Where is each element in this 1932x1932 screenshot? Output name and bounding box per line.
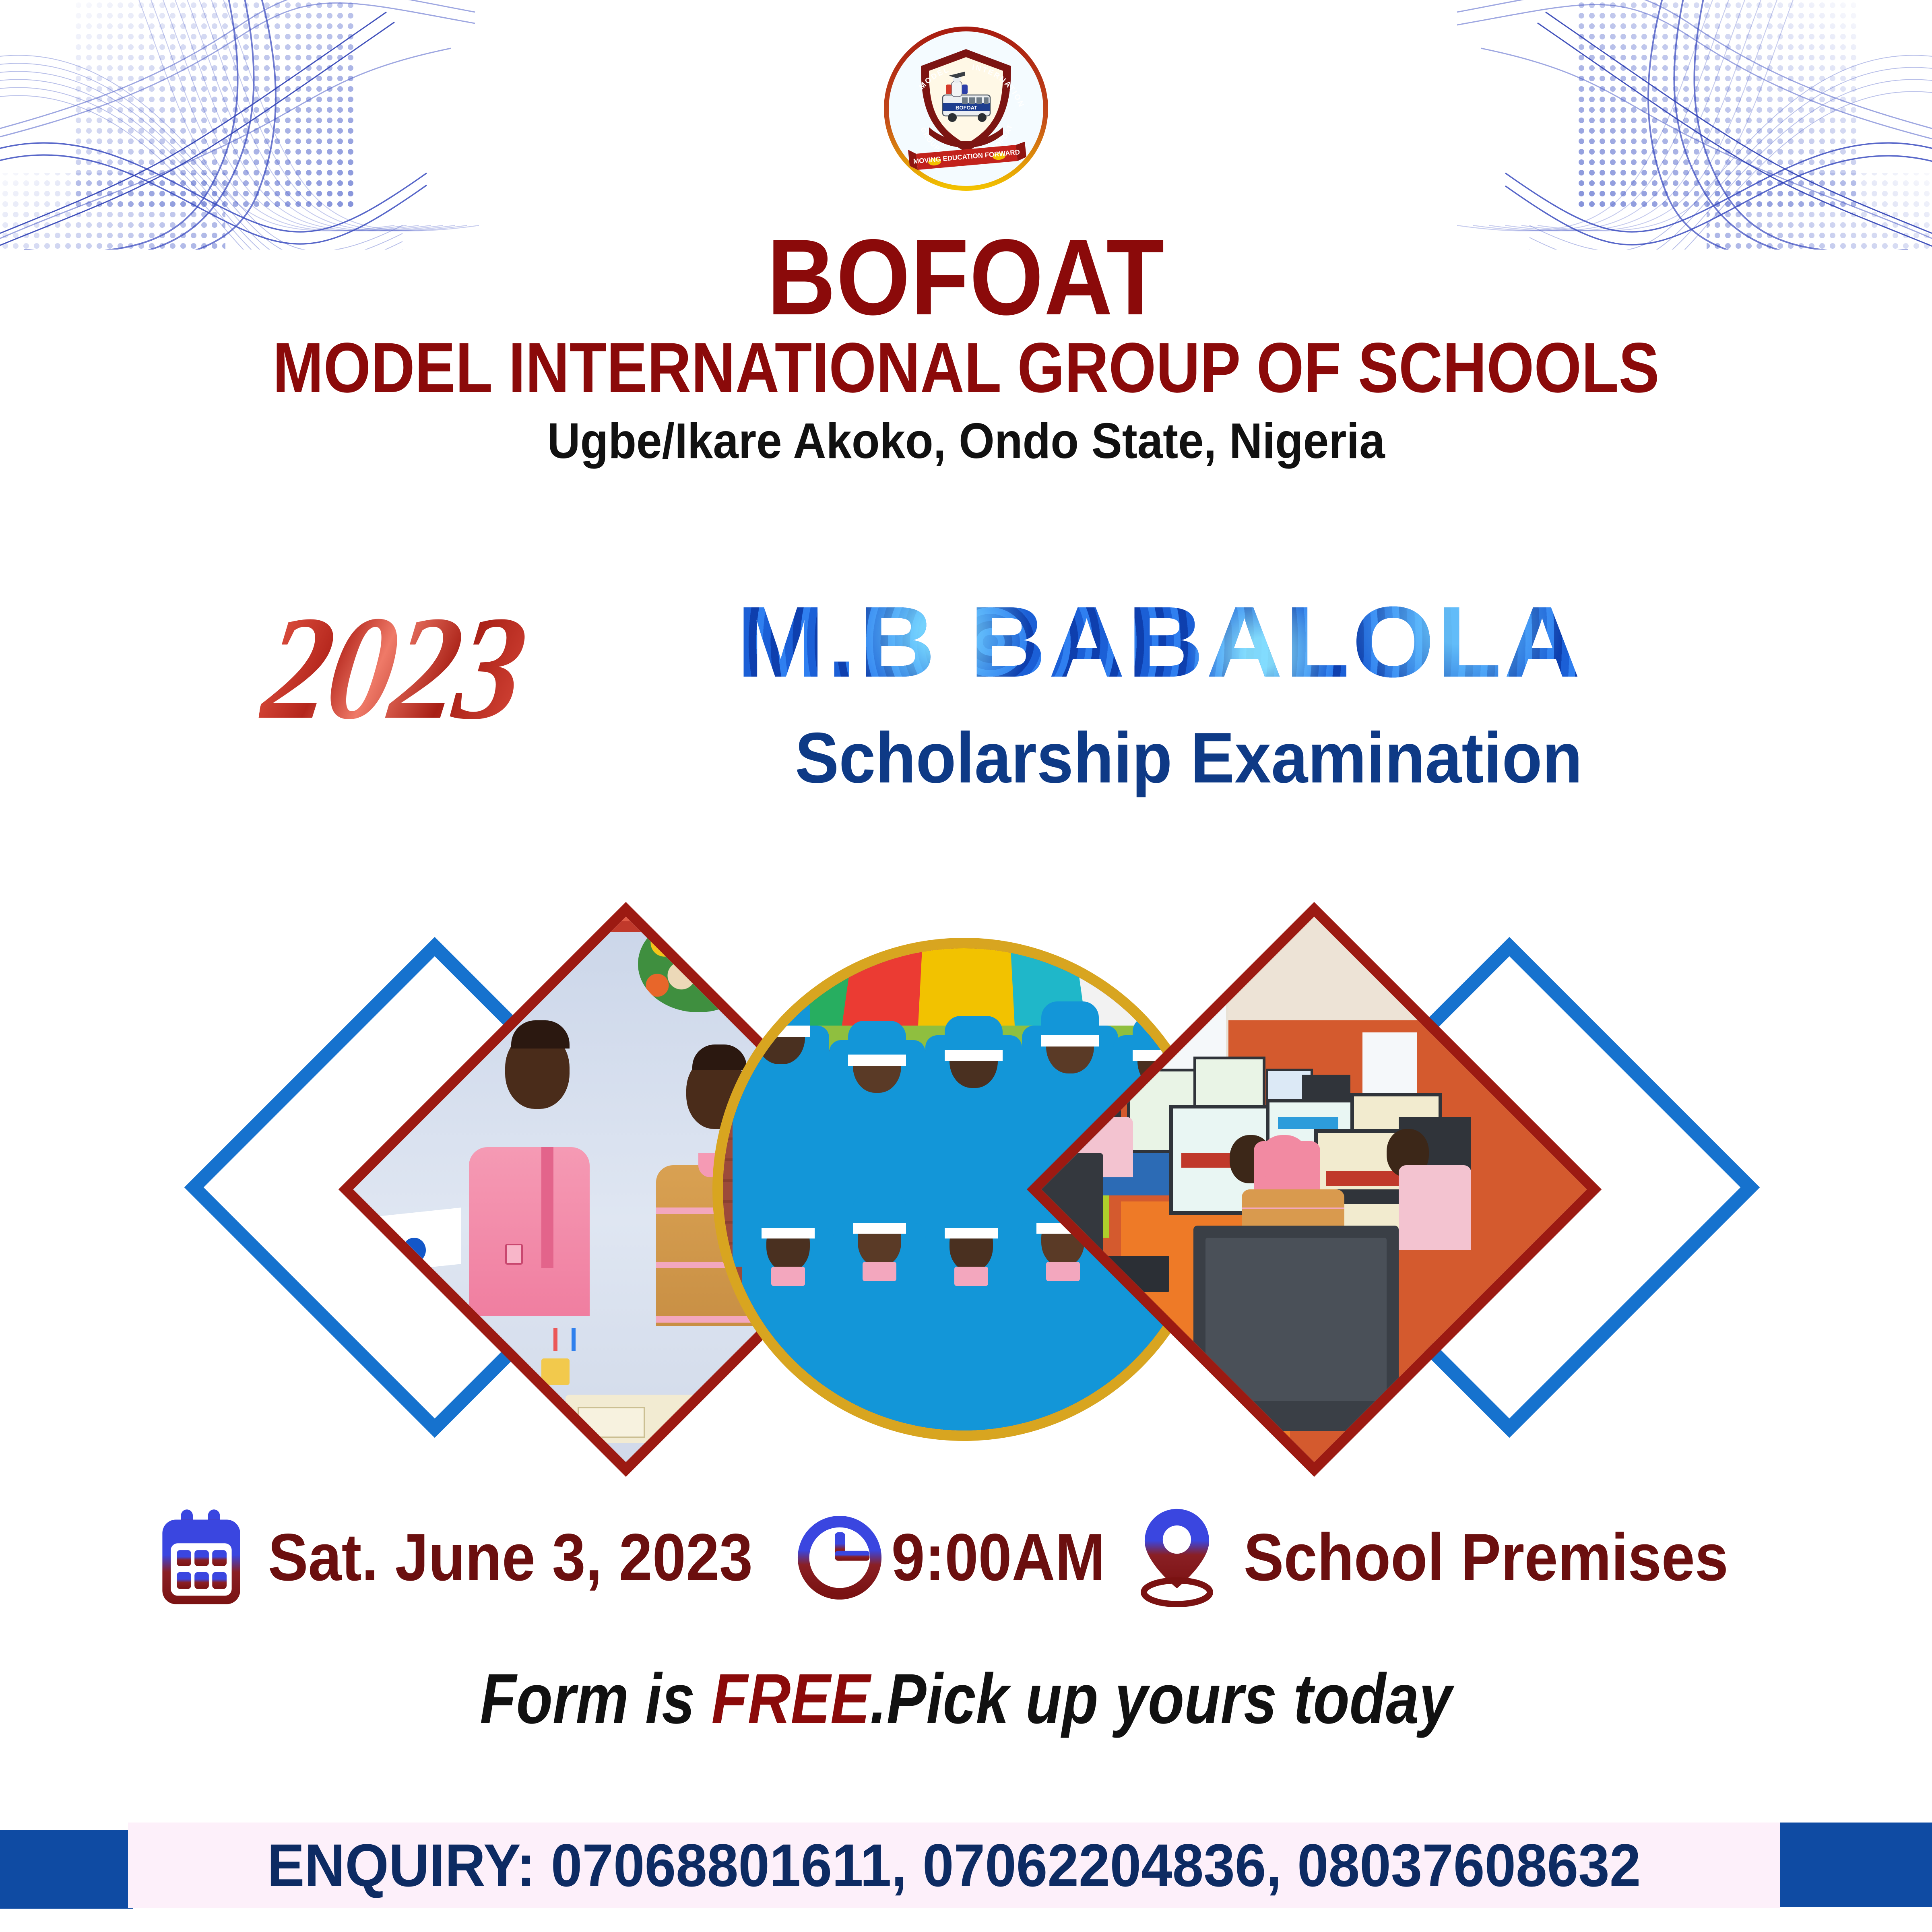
footer-enquiry: ENQUIRY: 07068801611, 07062204836, 08037… bbox=[186, 1823, 1722, 1908]
school-crest-logo-icon: MODEL INTERNATIONAL GROUP OF SCHOOLS BOF… bbox=[881, 24, 1051, 193]
footer-accent-left bbox=[0, 1830, 133, 1909]
event-year: 2023 bbox=[254, 582, 534, 753]
school-crest-logo: MODEL INTERNATIONAL GROUP OF SCHOOLS BOF… bbox=[881, 24, 1051, 193]
footer-accent-right bbox=[1775, 1823, 1932, 1907]
promo-after: .Pick up yours today bbox=[870, 1660, 1452, 1738]
detail-time: 9:00AM bbox=[797, 1507, 1135, 1608]
school-location: Ugbe/Ikare Akoko, Ondo State, Nigeria bbox=[77, 415, 1855, 467]
event-subtitle: Scholarship Examination bbox=[795, 716, 1582, 799]
svg-text:BOFOAT: BOFOAT bbox=[956, 105, 977, 111]
wave-ribbon-graphic-left bbox=[0, 0, 604, 250]
photo-collage bbox=[0, 894, 1932, 1481]
detail-time-label: 9:00AM bbox=[891, 1519, 1105, 1596]
detail-venue: School Premises bbox=[1135, 1507, 1773, 1608]
clock-icon bbox=[797, 1507, 882, 1608]
promo-before: Form is bbox=[480, 1660, 711, 1738]
detail-date: Sat. June 3, 2023 bbox=[159, 1507, 797, 1608]
event-title: M.B BABALOLA bbox=[737, 596, 1583, 688]
promo-line: Form is FREE.Pick up yours today bbox=[155, 1658, 1777, 1740]
header-block: BOFOAT MODEL INTERNATIONAL GROUP OF SCHO… bbox=[0, 225, 1932, 467]
event-details-row: Sat. June 3, 2023 9:00AM bbox=[0, 1489, 1932, 1626]
detail-venue-label: School Premises bbox=[1244, 1519, 1728, 1596]
wave-ribbon-graphic-right bbox=[1328, 0, 1932, 250]
school-subtitle: MODEL INTERNATIONAL GROUP OF SCHOOLS bbox=[135, 332, 1797, 405]
calendar-icon bbox=[159, 1507, 244, 1608]
corner-decoration-left bbox=[0, 0, 604, 250]
page-title: BOFOAT bbox=[116, 225, 1816, 329]
promo-highlight: FREE bbox=[711, 1660, 870, 1738]
event-title-block: 2023 2023 M.B BABALOLA Scholarship Exami… bbox=[0, 584, 1932, 849]
detail-date-label: Sat. June 3, 2023 bbox=[268, 1519, 753, 1596]
location-pin-icon bbox=[1135, 1507, 1219, 1608]
corner-decoration-right bbox=[1328, 0, 1932, 250]
